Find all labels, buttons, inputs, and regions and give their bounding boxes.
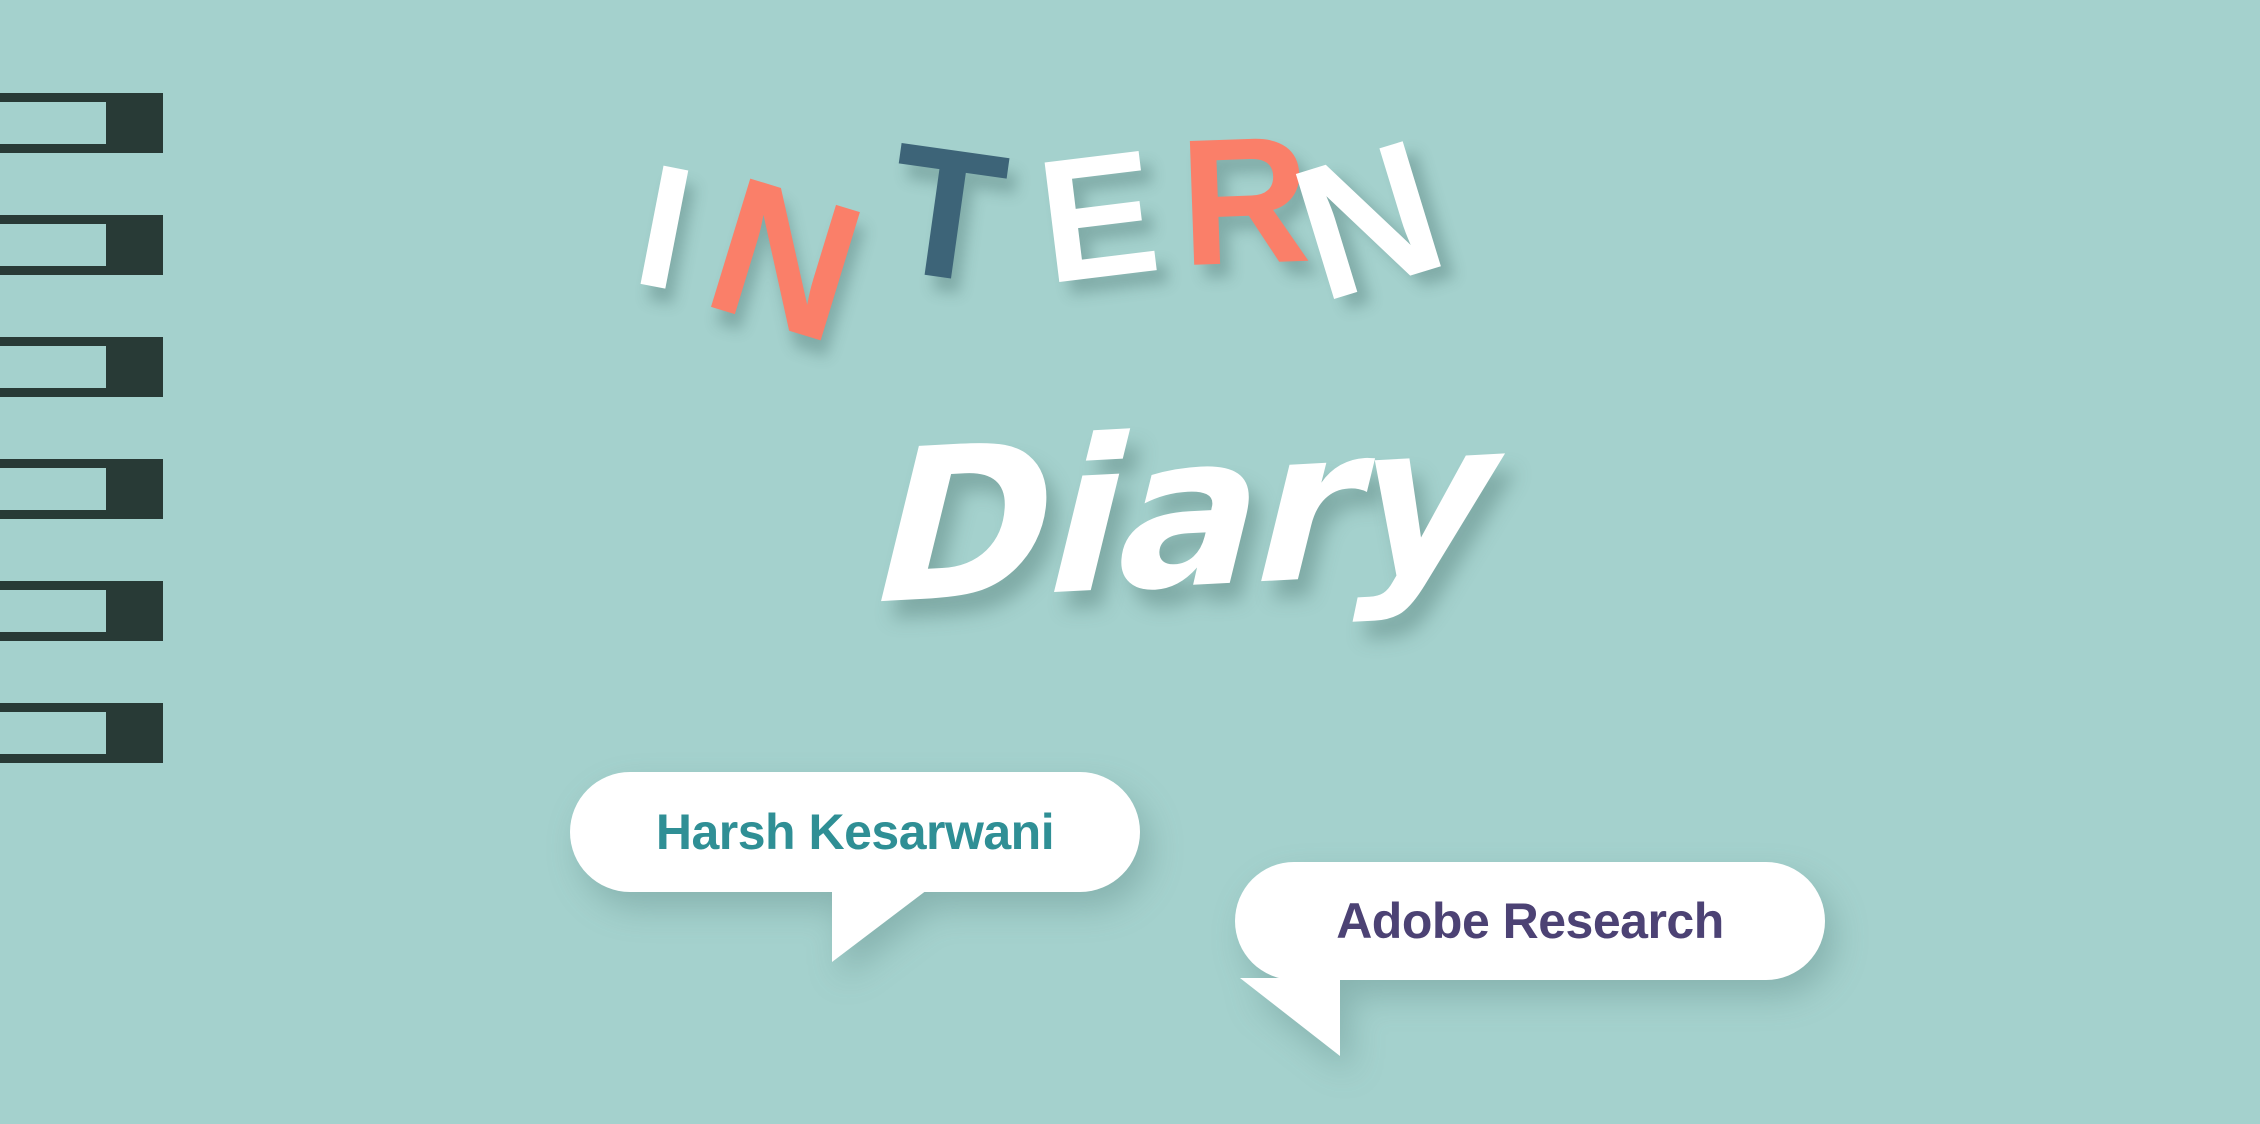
- intern-letter-3: T: [878, 115, 1012, 313]
- poster-canvas: INTERN Diary Harsh Kesarwani Adobe Resea…: [0, 0, 2260, 1124]
- binder-ring: [0, 581, 163, 641]
- binder-ring: [0, 459, 163, 519]
- binder-ring-hole: [0, 346, 106, 388]
- speech-bubble-organization-tail: [1240, 978, 1340, 1056]
- speech-bubble-person-tail: [832, 890, 927, 962]
- binder-ring-hole: [0, 590, 106, 632]
- binder-ring-hole: [0, 224, 106, 266]
- binder-ring-hole: [0, 712, 106, 754]
- speech-bubble-organization[interactable]: Adobe Research: [1235, 862, 1825, 980]
- binder-ring-hole: [0, 102, 106, 144]
- binder-ring: [0, 703, 163, 763]
- diary-script-word: Diary: [875, 392, 1498, 635]
- speech-bubble-person-label: Harsh Kesarwani: [656, 803, 1054, 861]
- binder-ring: [0, 93, 163, 153]
- intern-letter-4: E: [1030, 124, 1164, 311]
- speech-bubble-organization-label: Adobe Research: [1336, 892, 1724, 950]
- speech-bubble-person[interactable]: Harsh Kesarwani: [570, 772, 1140, 892]
- intern-letter-1: I: [624, 137, 702, 317]
- intern-letter-2: N: [689, 146, 877, 373]
- binder-ring-hole: [0, 468, 106, 510]
- binder-ring: [0, 337, 163, 397]
- intern-wordmark: INTERN: [600, 130, 1660, 430]
- binder-ring: [0, 215, 163, 275]
